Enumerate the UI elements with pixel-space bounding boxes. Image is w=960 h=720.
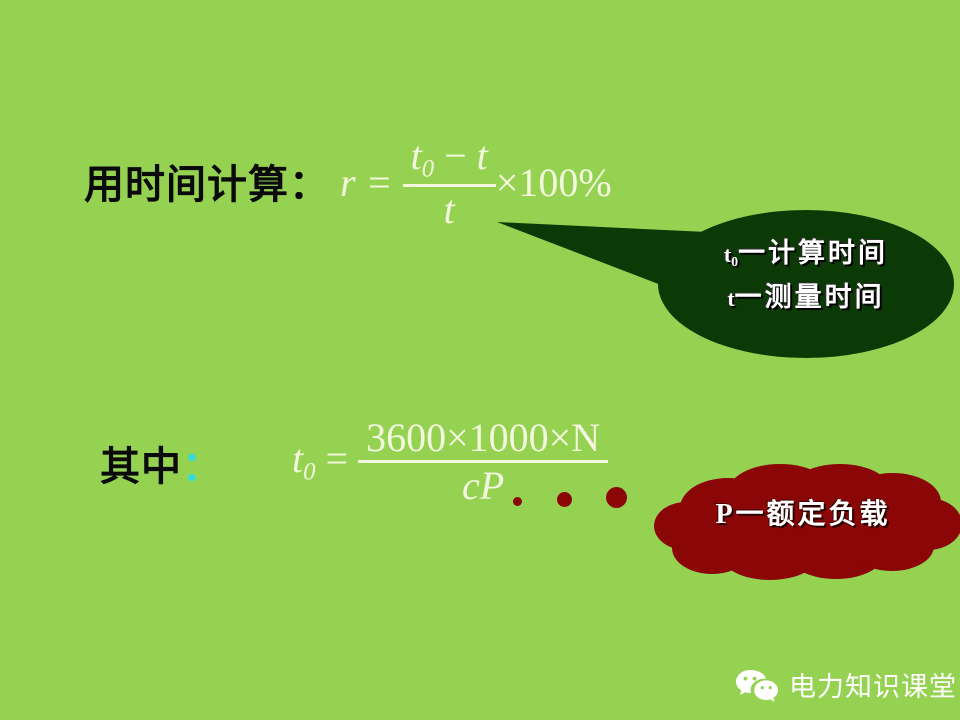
green-callout-line-1: t0一计算时间	[658, 232, 954, 276]
red-cloud-text: P一额定负载	[650, 492, 956, 532]
t0-fraction: 3600×1000×N cP	[358, 418, 608, 506]
where-label-colon: ：	[182, 444, 223, 489]
where-label: 其中：	[100, 434, 223, 492]
time-calculation-label: 用时间计算：	[84, 152, 330, 210]
green-callout-line-2: t一测量时间	[658, 276, 954, 320]
green-callout-var-t: t	[727, 286, 734, 311]
where-label-text: 其中	[100, 444, 182, 489]
slide-canvas: 用时间计算： r = t0 − t t ×100% t0一计算时间 t一测量时间…	[0, 0, 960, 720]
trailing-dot-small	[513, 497, 522, 506]
trailing-dot-large	[606, 487, 627, 508]
trailing-dot-medium	[557, 492, 572, 507]
t0-formula-lead: t0 =	[292, 436, 358, 481]
green-callout-var-t0: t0	[724, 242, 738, 267]
footer-brand-text: 电力知识课堂	[789, 665, 957, 704]
wechat-logo	[735, 668, 779, 702]
rate-numerator: t0 − t	[403, 136, 496, 187]
footer-watermark: 电力知识课堂	[735, 665, 957, 704]
t0-numerator: 3600×1000×N	[358, 418, 608, 463]
green-callout-text: t0一计算时间 t一测量时间	[658, 232, 954, 319]
rate-formula-lead: r =	[340, 160, 403, 205]
rate-formula-trailing: ×100%	[496, 160, 612, 205]
